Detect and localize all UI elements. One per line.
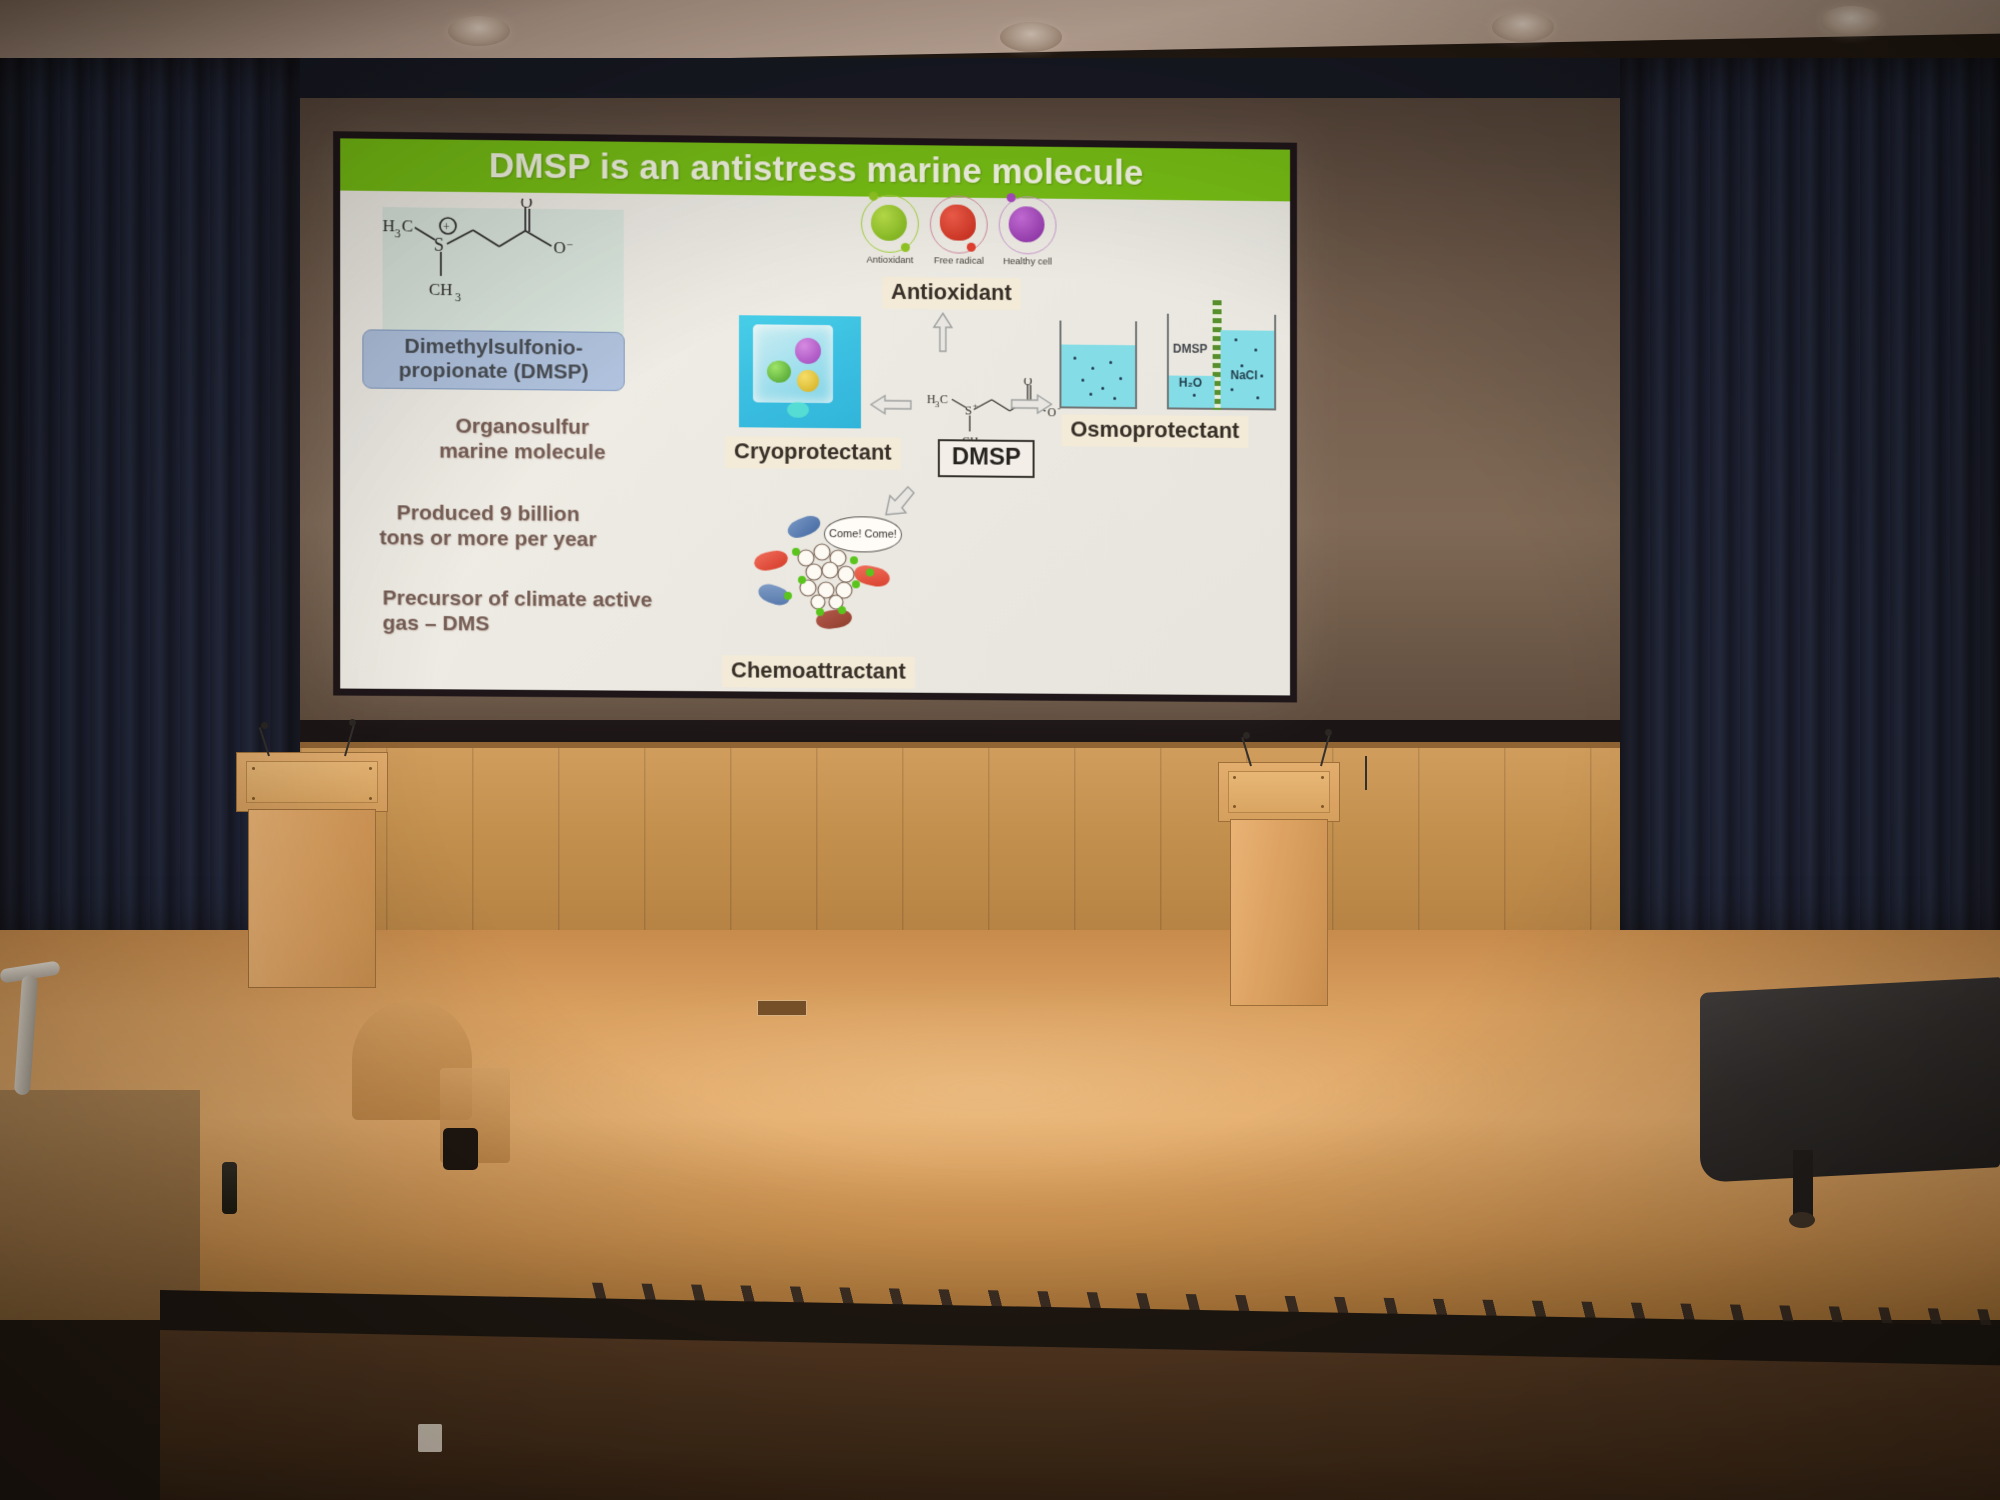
tag-chemoattractant: Chemoattractant bbox=[722, 655, 915, 688]
podium-face-panel bbox=[246, 761, 378, 803]
bullet2-line1: Produced 9 billion bbox=[362, 500, 613, 527]
antioxidant-caption: Antioxidant bbox=[857, 254, 923, 266]
molecule-cluster bbox=[784, 540, 894, 621]
microphone-head-icon bbox=[349, 719, 356, 726]
svg-text:S: S bbox=[965, 402, 972, 417]
tag-cryoprotectant: Cryoprotectant bbox=[725, 436, 901, 470]
antioxidant-orb-icon bbox=[871, 205, 907, 241]
beaker-left bbox=[1059, 321, 1137, 410]
cryoprotectant-image bbox=[739, 315, 861, 428]
svg-text:O: O bbox=[1024, 377, 1033, 388]
downlight-icon bbox=[1492, 12, 1554, 42]
presentation-slide: DMSP is an antistress marine molecule H … bbox=[340, 138, 1290, 695]
speech-bubble: Come! Come! bbox=[824, 516, 902, 553]
free-radical-caption: Free radical bbox=[925, 255, 993, 267]
beaker-label-nacl: NaCl bbox=[1230, 368, 1257, 382]
dmsp-name-box: Dimethylsulfonio- propionate (DMSP) bbox=[362, 329, 624, 391]
podium-body-left bbox=[248, 809, 376, 988]
bullet1-line2: marine molecule bbox=[407, 438, 638, 465]
chemoattractant-illustration: Come! Come! bbox=[742, 513, 957, 650]
equipment-case bbox=[443, 1128, 478, 1170]
microbe-teal bbox=[787, 402, 809, 418]
microphone-head-icon bbox=[261, 722, 268, 729]
tag-osmoprotectant: Osmoprotectant bbox=[1061, 414, 1248, 448]
downlight-icon bbox=[1820, 6, 1882, 36]
arrow-left-icon bbox=[869, 393, 913, 422]
water-bottle bbox=[222, 1162, 237, 1214]
svg-text:+: + bbox=[973, 401, 978, 411]
arrow-right-icon bbox=[1010, 392, 1054, 421]
svg-text:−: − bbox=[567, 237, 574, 251]
bullet-precursor: Precursor of climate active gas – DMS bbox=[383, 585, 674, 638]
mic-stand bbox=[1365, 756, 1367, 790]
apron-outlet bbox=[418, 1424, 442, 1452]
healthy-cell-orb-icon bbox=[1009, 206, 1045, 242]
podium-top-right bbox=[1218, 762, 1340, 822]
svg-text:+: + bbox=[443, 220, 450, 234]
dmsp-name-line1: Dimethylsulfonio- bbox=[365, 334, 621, 360]
podium-top-left bbox=[236, 752, 388, 812]
podium-body-right bbox=[1230, 819, 1328, 1006]
microphone-head-icon bbox=[1325, 729, 1332, 736]
auditorium-photo: DMSP is an antistress marine molecule H … bbox=[0, 0, 2000, 1500]
microbe-yellow bbox=[797, 370, 819, 392]
podium-face-panel bbox=[1228, 771, 1330, 813]
orbit-dot bbox=[967, 243, 976, 252]
healthy-cell-caption: Healthy cell bbox=[993, 256, 1063, 268]
projection-screen: DMSP is an antistress marine molecule H … bbox=[340, 138, 1290, 695]
svg-text:3: 3 bbox=[455, 290, 461, 304]
microbe-purple bbox=[795, 338, 821, 364]
stage-back-paneling bbox=[300, 748, 1620, 953]
stage-steps bbox=[0, 1090, 200, 1320]
orbit-dot bbox=[869, 192, 878, 201]
slide-title: DMSP is an antistress marine molecule bbox=[340, 138, 1290, 201]
svg-text:O: O bbox=[553, 238, 565, 257]
bullet3-line1: Precursor of climate active bbox=[383, 585, 674, 613]
bullet-production: Produced 9 billion tons or more per year bbox=[362, 500, 613, 553]
podium-right[interactable] bbox=[1218, 762, 1338, 1004]
podium-left[interactable] bbox=[236, 752, 386, 986]
beaker-liquid bbox=[1061, 345, 1135, 408]
svg-text:C: C bbox=[402, 216, 413, 235]
floor-receptacle bbox=[757, 1000, 807, 1016]
dmsp-name-line2: propionate (DMSP) bbox=[365, 358, 621, 384]
svg-text:C: C bbox=[940, 392, 948, 406]
osmoprotectant-illustration: DMSP H₂O NaCl bbox=[1059, 313, 1273, 413]
ice-cube-icon bbox=[753, 324, 833, 403]
beaker-label-water: H₂O bbox=[1179, 376, 1202, 390]
bullet1-line1: Organosulfur bbox=[407, 413, 638, 440]
svg-text:H: H bbox=[383, 216, 395, 235]
grand-piano-covered bbox=[1700, 977, 2000, 1183]
dmsp-structure-diagram: H 3 C S + CH 3 O O − bbox=[362, 197, 613, 330]
antioxidant-illustration: Antioxidant Free radical Healthy cell bbox=[857, 194, 1056, 274]
downlight-icon bbox=[448, 16, 510, 46]
bullet3-line2: gas – DMS bbox=[383, 611, 674, 639]
bullet2-line2: tons or more per year bbox=[362, 525, 613, 552]
orbit-dot bbox=[1007, 193, 1016, 202]
svg-text:S: S bbox=[434, 235, 444, 255]
curtain-right bbox=[1620, 58, 2000, 948]
arrow-up-icon bbox=[932, 311, 954, 358]
orbit-dot bbox=[901, 243, 910, 252]
free-radical-orb-icon bbox=[940, 204, 976, 240]
svg-text:CH: CH bbox=[429, 280, 453, 299]
microphone-head-icon bbox=[1243, 732, 1250, 739]
tag-antioxidant: Antioxidant bbox=[882, 277, 1021, 310]
bullet-organosulfur: Organosulfur marine molecule bbox=[407, 413, 638, 466]
microbe-green bbox=[767, 360, 791, 382]
downlight-icon bbox=[1000, 22, 1062, 52]
bacterium-blue bbox=[785, 512, 823, 541]
floor-reflection bbox=[430, 1000, 1530, 1200]
dmsp-center-label: DMSP bbox=[938, 439, 1035, 478]
beaker-right: DMSP H₂O NaCl bbox=[1167, 314, 1276, 411]
beaker-label-dmsp: DMSP bbox=[1173, 342, 1207, 356]
svg-text:O: O bbox=[520, 197, 532, 212]
svg-text:3: 3 bbox=[395, 226, 401, 240]
piano-caster bbox=[1789, 1212, 1815, 1228]
